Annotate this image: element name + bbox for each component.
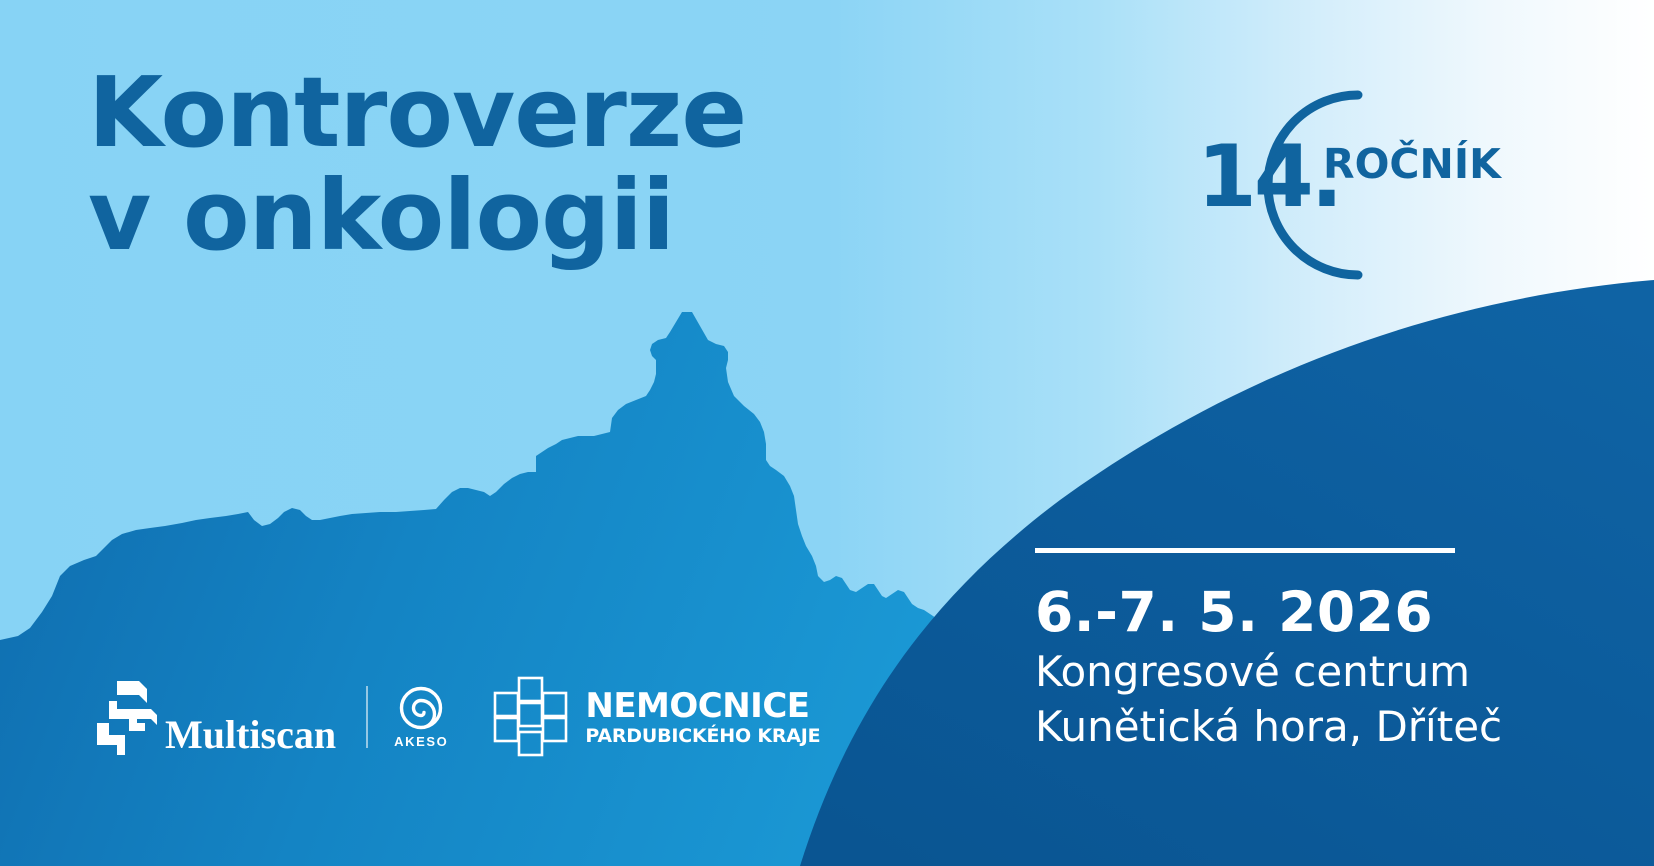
event-info-panel: 6.-7. 5. 2026 Kongresové centrum Kunětic… [1035, 548, 1505, 752]
nemocnice-wordmark-main: NEMOCNICE [585, 689, 820, 723]
edition-label: ROČNÍK [1323, 140, 1501, 188]
edition-badge: 14. ROČNÍK [1175, 78, 1505, 293]
event-date: 6.-7. 5. 2026 [1035, 583, 1505, 642]
logo-separator [366, 686, 368, 748]
event-title-line-1: Kontroverze [88, 62, 746, 165]
multiscan-wordmark: Multiscan [165, 715, 336, 755]
akeso-spiral-icon [399, 686, 443, 730]
akeso-wordmark: AKESO [394, 734, 448, 749]
conference-banner: Kontroverze v onkologii 14. ROČNÍK 6.-7.… [0, 0, 1654, 866]
sponsor-logo-row: Multiscan AKESO [95, 672, 820, 762]
sponsor-logo-akeso: AKESO [394, 686, 448, 749]
event-venue-line-1: Kongresové centrum [1035, 648, 1505, 697]
event-title-line-2: v onkologii [88, 165, 746, 268]
info-divider-rule [1035, 548, 1455, 553]
nemocnice-wordmark-sub: PARDUBICKÉHO KRAJE [585, 727, 820, 746]
sponsor-logo-nemocnice: NEMOCNICE PARDUBICKÉHO KRAJE [492, 676, 820, 758]
nemocnice-squares-icon [492, 676, 568, 758]
edition-number: 14. [1197, 134, 1340, 220]
multiscan-mark-icon [95, 679, 161, 755]
sponsor-logo-multiscan: Multiscan [95, 679, 336, 755]
nemocnice-wordmark-group: NEMOCNICE PARDUBICKÉHO KRAJE [585, 689, 820, 746]
event-venue-line-2: Kunětická hora, Dříteč [1035, 703, 1505, 752]
event-title: Kontroverze v onkologii [88, 62, 746, 268]
